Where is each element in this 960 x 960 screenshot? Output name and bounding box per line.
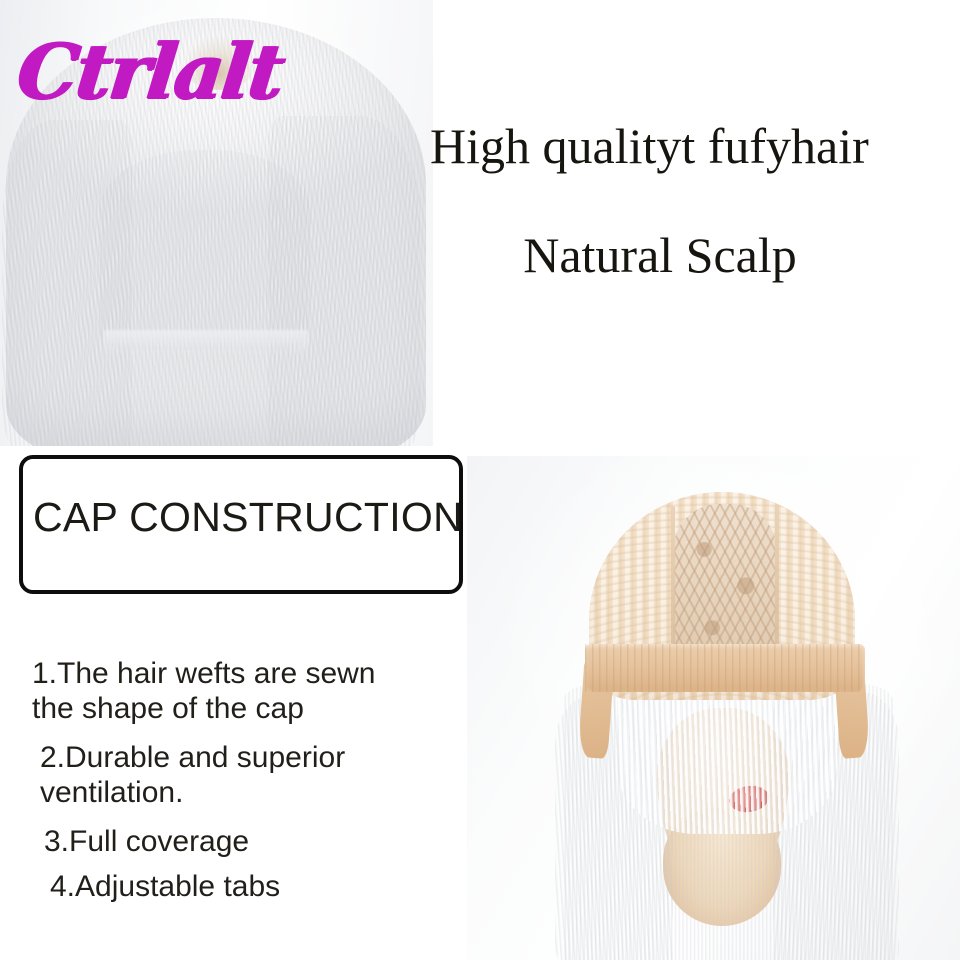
cap-band-stitching [585, 644, 865, 692]
cap-construction-photo [467, 456, 960, 960]
headline-primary: High qualityt fufyhair [430, 119, 958, 174]
brand-logo: Ctrlalt [14, 34, 286, 110]
wig-fringe-over-face [617, 684, 837, 834]
headline-secondary: Natural Scalp [430, 228, 890, 283]
feature-item-3: 3.Full coverage [44, 824, 458, 859]
wig-bangs [100, 150, 310, 350]
cap-feature-list: 1.The hair wefts are sewn the shape of t… [28, 656, 458, 919]
feature-item-2: 2.Durable and superior ventilation. [40, 740, 458, 810]
cap-construction-title: CAP CONSTRUCTION [33, 494, 463, 541]
feature-item-4: 4.Adjustable tabs [50, 869, 458, 904]
feature-item-1: 1.The hair wefts are sewn the shape of t… [32, 656, 458, 726]
product-infographic-page: Ctrlalt High qualityt fufyhair Natural S… [0, 0, 960, 960]
wig-bangs-edge [104, 330, 308, 356]
cap-elastic-band [585, 644, 865, 692]
